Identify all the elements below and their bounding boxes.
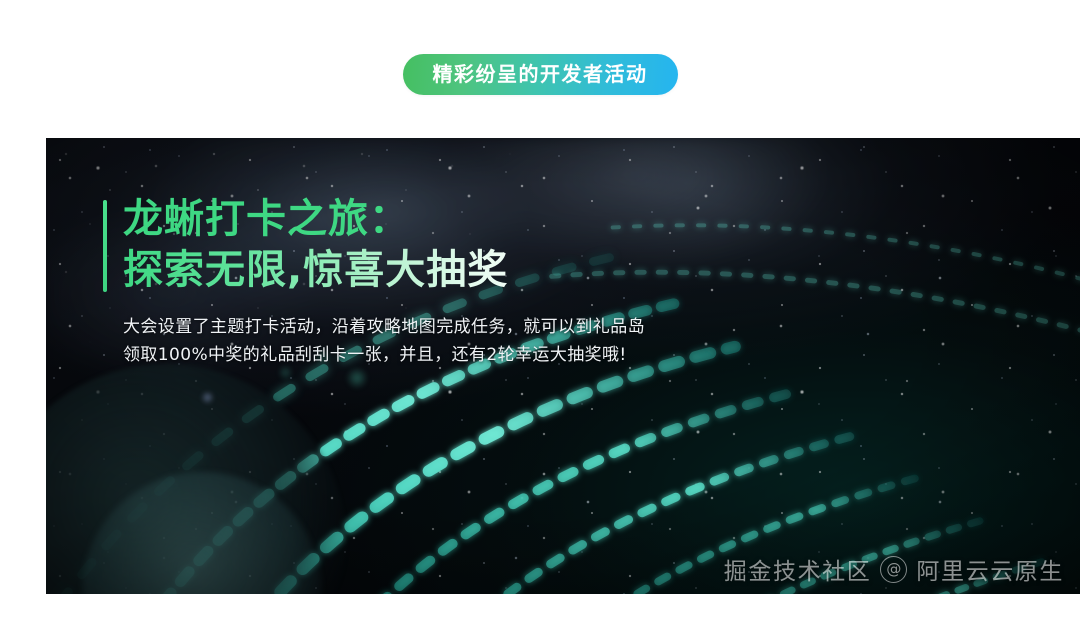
bokeh-dot-1	[201, 391, 214, 404]
badge-row: 精彩纷呈的开发者活动	[0, 0, 1080, 138]
bokeh-dot-2	[346, 367, 368, 389]
headline-line-2: 探索无限,惊喜大抽奖	[123, 245, 645, 296]
description-line-1: 大会设置了主题打卡活动，沿着攻略地图完成任务，就可以到礼品岛	[123, 314, 645, 342]
banner-text-block: 龙蜥打卡之旅： 探索无限,惊喜大抽奖 大会设置了主题打卡活动，沿着攻略地图完成任…	[103, 194, 645, 369]
promo-banner[interactable]: 龙蜥打卡之旅： 探索无限,惊喜大抽奖 大会设置了主题打卡活动，沿着攻略地图完成任…	[46, 138, 1080, 594]
watermark-account: 阿里云云原生	[916, 552, 1064, 586]
description-line-2: 领取100%中奖的礼品刮刮卡一张，并且，还有2轮幸运大抽奖哦!	[123, 342, 645, 370]
headline-line-1: 龙蜥打卡之旅：	[123, 194, 645, 245]
banner-description: 大会设置了主题打卡活动，沿着攻略地图完成任务，就可以到礼品岛 领取100%中奖的…	[123, 314, 645, 369]
watermark: 掘金技术社区 @ 阿里云云原生	[724, 552, 1064, 586]
accent-bar	[103, 200, 107, 292]
watermark-source: 掘金技术社区	[724, 552, 872, 586]
banner-headline: 龙蜥打卡之旅： 探索无限,惊喜大抽奖	[123, 194, 645, 296]
section-badge: 精彩纷呈的开发者活动	[403, 54, 678, 95]
at-sign-icon: @	[880, 556, 907, 583]
